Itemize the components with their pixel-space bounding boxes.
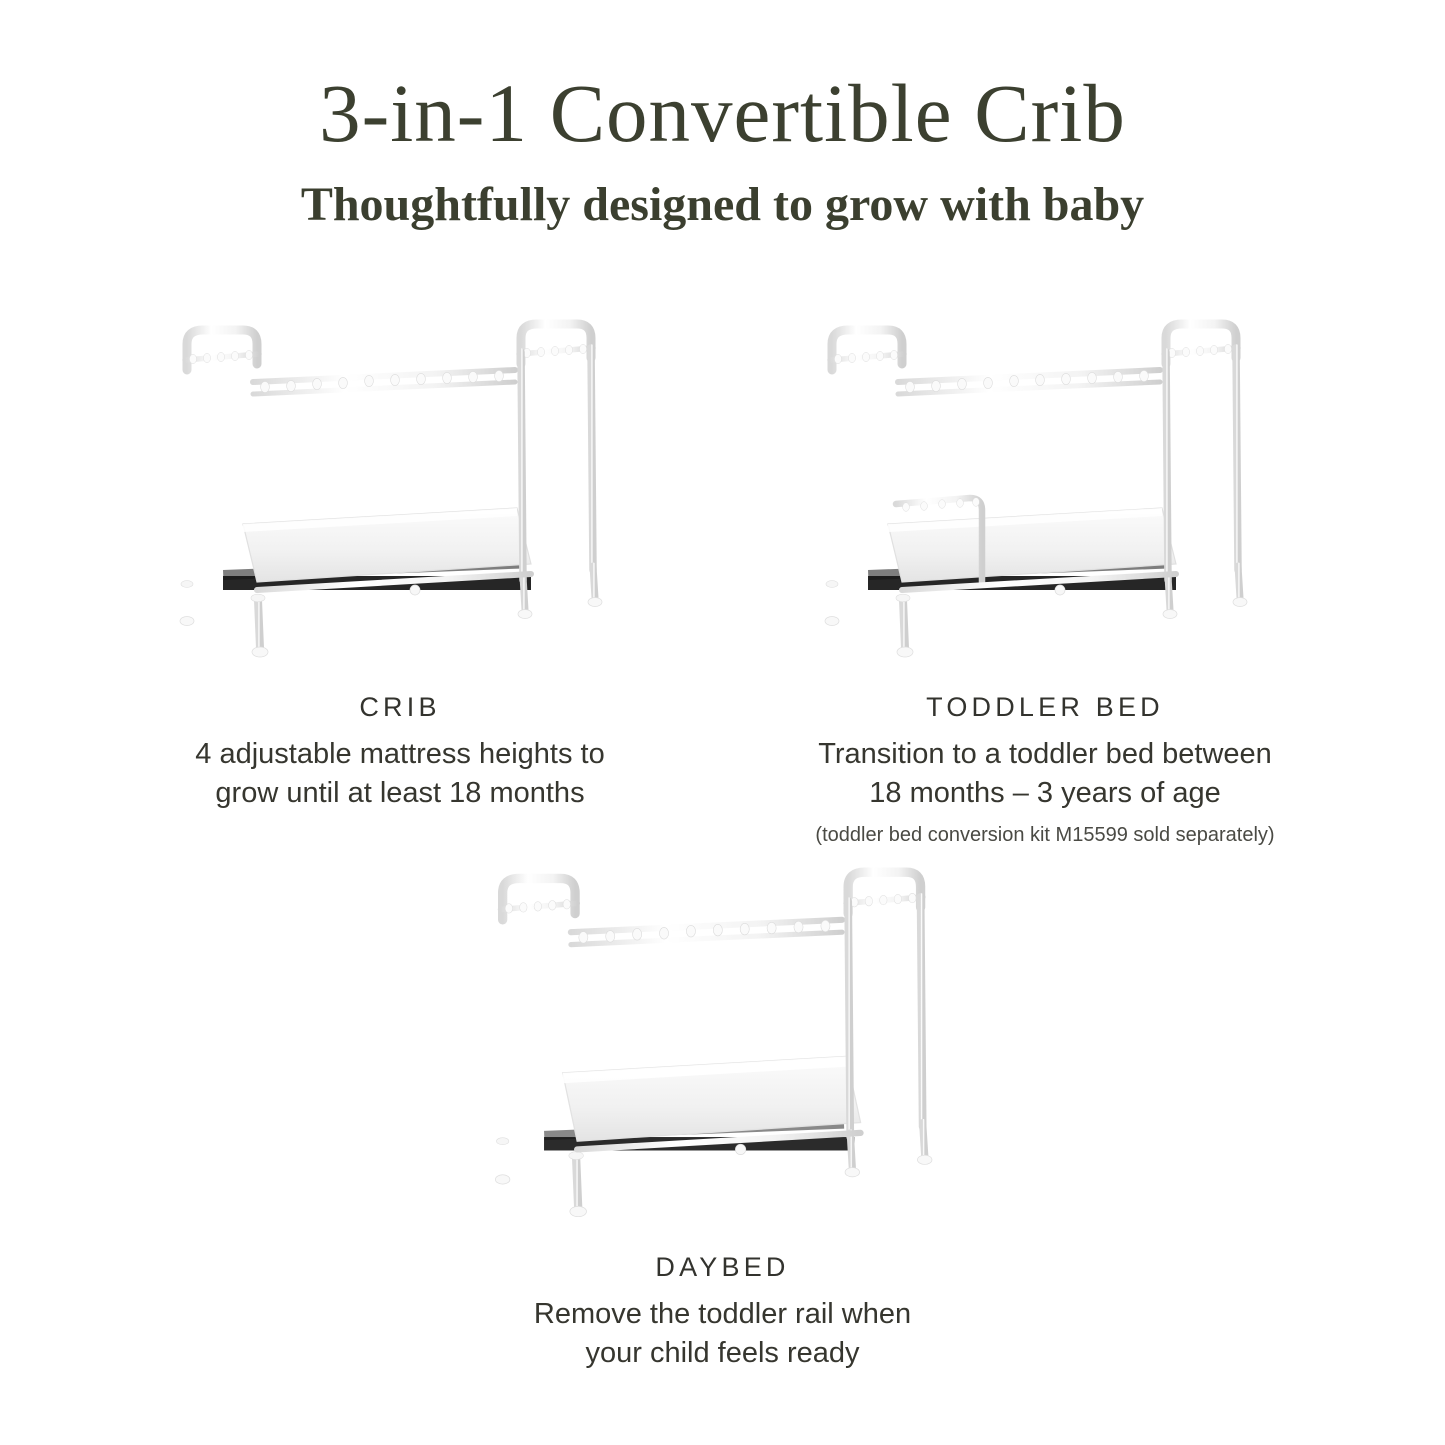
toddler-bed-illustration xyxy=(810,318,1280,666)
page-title: 3-in-1 Convertible Crib xyxy=(0,72,1445,155)
panel-crib: CRIB 4 adjustable mattress heights to gr… xyxy=(78,318,723,848)
panel-toddler-bed: TODDLER BED Transition to a toddler bed … xyxy=(723,318,1368,848)
mode-description-daybed: Remove the toddler rail when your child … xyxy=(534,1295,911,1372)
crib-illustration xyxy=(165,318,635,666)
daybed-illustration xyxy=(473,866,973,1226)
mode-description-line-2: 18 months – 3 years of age xyxy=(818,774,1272,813)
top-row: CRIB 4 adjustable mattress heights to gr… xyxy=(0,318,1445,848)
mode-description-line-2: your child feels ready xyxy=(534,1334,911,1373)
mode-description-line-1: Remove the toddler rail when xyxy=(534,1295,911,1334)
infographic-page: 3-in-1 Convertible Crib Thoughtfully des… xyxy=(0,0,1445,1445)
mode-description-line-2: grow until at least 18 months xyxy=(195,774,604,813)
mode-heading-daybed: DAYBED xyxy=(655,1252,789,1283)
mode-heading-toddler-bed: TODDLER BED xyxy=(926,692,1164,723)
bottom-row: DAYBED Remove the toddler rail when your… xyxy=(0,866,1445,1372)
mode-description-line-1: Transition to a toddler bed between xyxy=(818,735,1272,774)
panel-daybed: DAYBED Remove the toddler rail when your… xyxy=(400,866,1045,1372)
mode-description-crib: 4 adjustable mattress heights to grow un… xyxy=(195,735,604,812)
mode-description-toddler-bed: Transition to a toddler bed between 18 m… xyxy=(818,735,1272,812)
mode-description-line-1: 4 adjustable mattress heights to xyxy=(195,735,604,774)
mode-heading-crib: CRIB xyxy=(359,692,440,723)
header: 3-in-1 Convertible Crib Thoughtfully des… xyxy=(0,0,1445,229)
conversion-kit-note: (toddler bed conversion kit M15599 sold … xyxy=(815,822,1274,848)
page-subtitle: Thoughtfully designed to grow with baby xyxy=(0,181,1445,229)
